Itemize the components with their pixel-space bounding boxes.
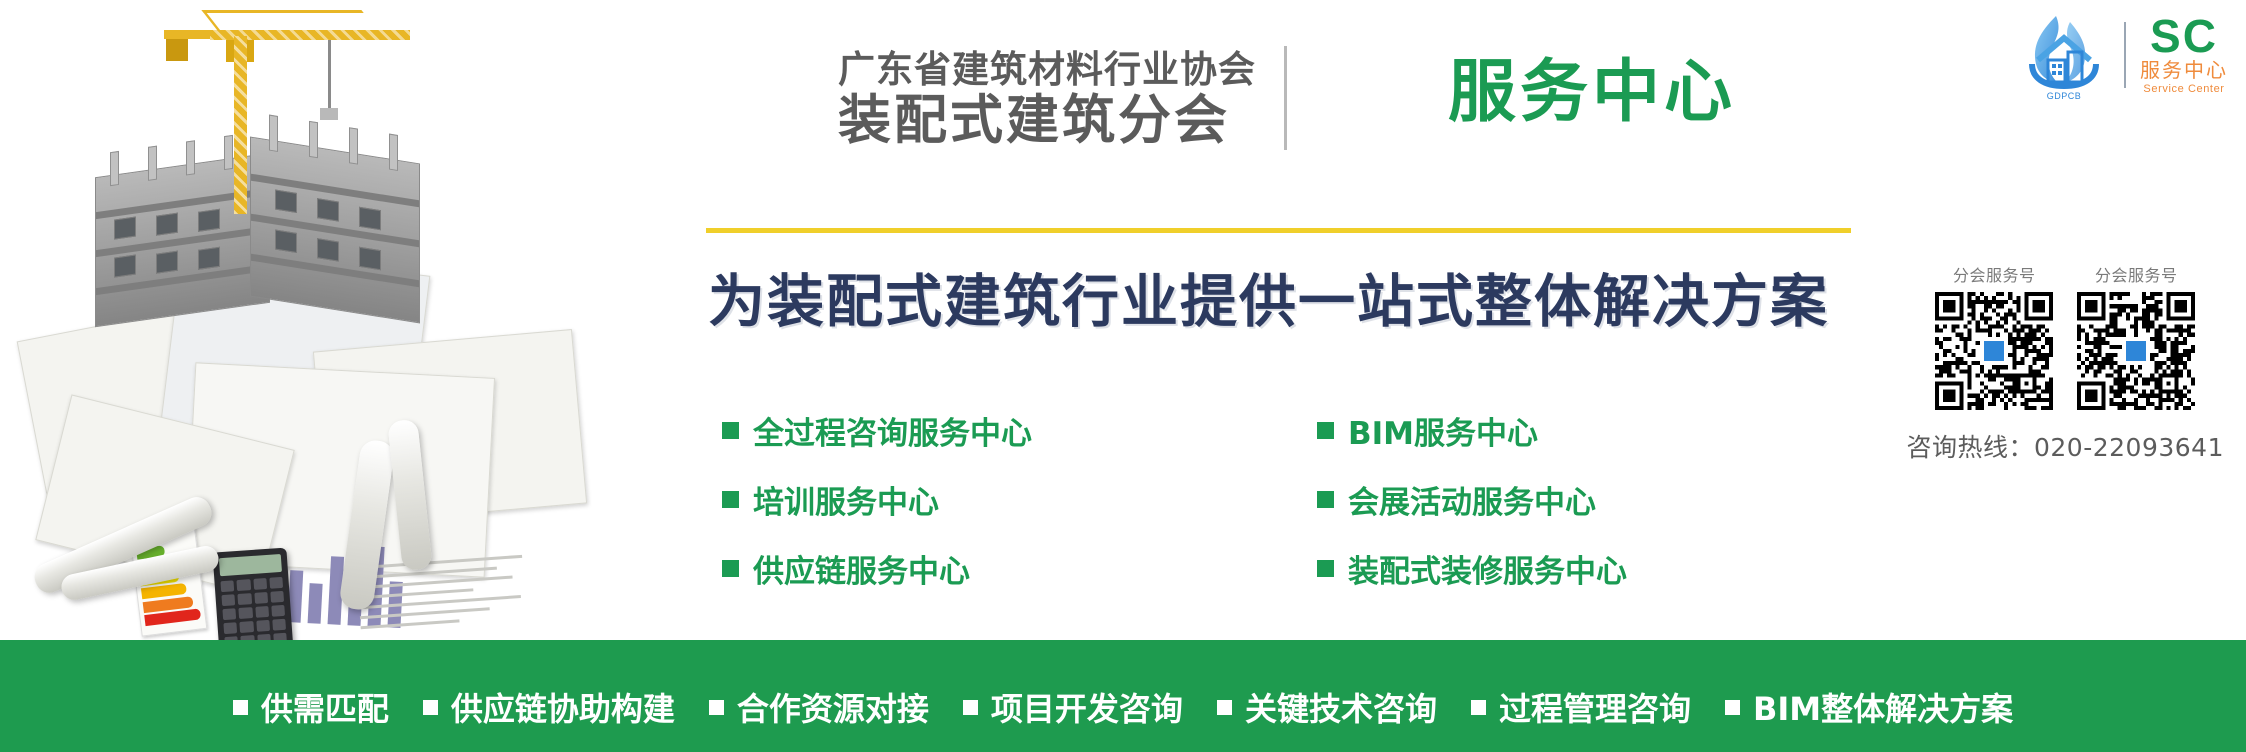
association-name-line1: 广东省建筑材料行业协会 xyxy=(838,49,1256,92)
footer-item-label: 供需匹配 xyxy=(261,684,389,730)
qr-code-icon[interactable] xyxy=(1935,292,2053,410)
hero-illustration xyxy=(0,0,640,640)
square-bullet-icon xyxy=(963,700,978,715)
logo: GDPCB SC 服务中心 Service Center xyxy=(2018,12,2228,98)
square-bullet-icon xyxy=(1317,491,1334,508)
square-bullet-icon xyxy=(1317,560,1334,577)
footer-item-label: 供应链协助构建 xyxy=(451,684,675,730)
list-item-label: BIM服务中心 xyxy=(1348,408,1538,453)
service-center-list: 全过程咨询服务中心 培训服务中心 供应链服务中心 BIM服务中心 会展活动服务中… xyxy=(722,408,1627,591)
list-item[interactable]: 装配式装修服务中心 xyxy=(1317,546,1627,591)
list-item-label: 培训服务中心 xyxy=(753,477,939,522)
footer-item[interactable]: 供应链协助构建 xyxy=(423,684,675,730)
service-column-1: 全过程咨询服务中心 培训服务中心 供应链服务中心 xyxy=(722,408,1032,591)
footer-item-label: BIM整体解决方案 xyxy=(1753,684,2013,730)
form-document-icon xyxy=(356,554,543,640)
footer-item[interactable]: 项目开发咨询 xyxy=(963,684,1183,730)
logo-abbr-en: Service Center xyxy=(2143,83,2224,95)
list-item-label: 装配式装修服务中心 xyxy=(1348,546,1627,591)
calculator-icon xyxy=(212,548,293,640)
service-center-title: 服务中心 xyxy=(1448,52,1736,134)
association-branch-name: 装配式建筑分会 xyxy=(838,92,1256,150)
square-bullet-icon xyxy=(722,560,739,577)
logo-wordmark: SC 服务中心 Service Center xyxy=(2140,15,2228,96)
footer-item-label: 项目开发咨询 xyxy=(991,684,1183,730)
list-item[interactable]: 供应链服务中心 xyxy=(722,546,1032,591)
list-item-label: 供应链服务中心 xyxy=(753,546,970,591)
square-bullet-icon xyxy=(1471,700,1486,715)
footer-item[interactable]: 合作资源对接 xyxy=(709,684,929,730)
footer-bar: 供需匹配 供应链协助构建 合作资源对接 项目开发咨询 关键技术咨询 过程管理咨询 xyxy=(0,640,2246,752)
square-bullet-icon xyxy=(423,700,438,715)
list-item[interactable]: 会展活动服务中心 xyxy=(1317,477,1627,522)
logo-mark-caption: GDPCB xyxy=(2018,91,2110,101)
qr-caption: 分会服务号 xyxy=(2095,262,2178,286)
footer-item[interactable]: 过程管理咨询 xyxy=(1471,684,1691,730)
list-item-label: 会展活动服务中心 xyxy=(1348,477,1596,522)
title-divider xyxy=(1284,46,1287,150)
list-item[interactable]: 培训服务中心 xyxy=(722,477,1032,522)
tower-crane-icon xyxy=(150,8,430,218)
logo-divider xyxy=(2124,22,2126,88)
footer-item-label: 过程管理咨询 xyxy=(1499,684,1691,730)
association-title: 广东省建筑材料行业协会 装配式建筑分会 xyxy=(838,46,1287,150)
footer-items: 供需匹配 供应链协助构建 合作资源对接 项目开发咨询 关键技术咨询 过程管理咨询 xyxy=(233,662,2013,730)
footer-item-label: 关键技术咨询 xyxy=(1245,684,1437,730)
footer-item[interactable]: 供需匹配 xyxy=(233,684,389,730)
square-bullet-icon xyxy=(722,422,739,439)
list-item[interactable]: 全过程咨询服务中心 xyxy=(722,408,1032,453)
list-item-label: 全过程咨询服务中心 xyxy=(753,408,1032,453)
square-bullet-icon xyxy=(1725,700,1740,715)
gold-divider xyxy=(706,228,1851,233)
square-bullet-icon xyxy=(1217,700,1232,715)
list-item[interactable]: BIM服务中心 xyxy=(1317,408,1627,453)
hotline-text: 咨询热线：020-22093641 xyxy=(1907,428,2225,464)
footer-item[interactable]: 关键技术咨询 xyxy=(1217,684,1437,730)
footer-item[interactable]: BIM整体解决方案 xyxy=(1725,684,2013,730)
square-bullet-icon xyxy=(722,491,739,508)
square-bullet-icon xyxy=(709,700,724,715)
service-column-2: BIM服务中心 会展活动服务中心 装配式装修服务中心 xyxy=(1317,408,1627,591)
qr-cell: 分会服务号 xyxy=(1935,262,2053,410)
logo-abbr-cn: 服务中心 xyxy=(2140,58,2228,83)
qr-contact-block: 分会服务号 分会服务号 咨询热线：020-22093641 xyxy=(1907,262,2225,464)
banner: GDPCB SC 服务中心 Service Center 广东省建筑材料行业协会… xyxy=(0,0,2246,752)
square-bullet-icon xyxy=(1317,422,1334,439)
logo-abbr: SC xyxy=(2150,15,2218,59)
qr-caption: 分会服务号 xyxy=(1953,262,2036,286)
house-in-flame-icon: GDPCB xyxy=(2018,12,2110,98)
qr-code-icon[interactable] xyxy=(2077,292,2195,410)
slogan: 为装配式建筑行业提供一站式整体解决方案 xyxy=(708,256,1829,338)
square-bullet-icon xyxy=(233,700,248,715)
qr-cell: 分会服务号 xyxy=(2077,262,2195,410)
footer-item-label: 合作资源对接 xyxy=(737,684,929,730)
qr-row: 分会服务号 分会服务号 xyxy=(1935,262,2195,410)
